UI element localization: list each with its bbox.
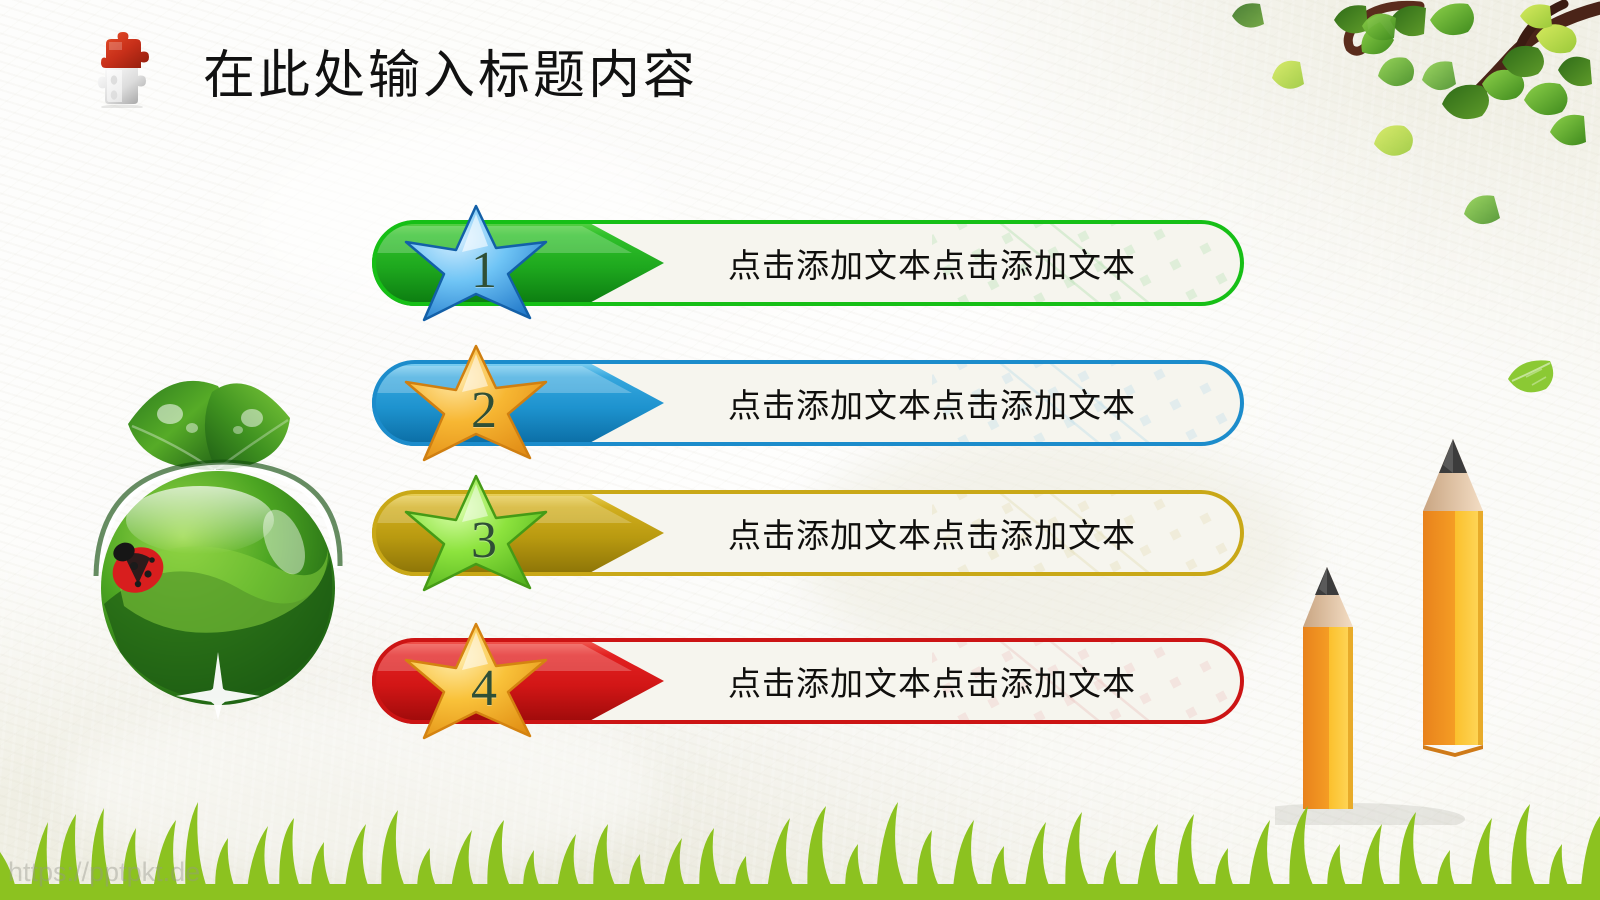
row-number: 4	[400, 620, 552, 742]
list-item[interactable]: 1 点击添加文本点击添加文本	[372, 220, 1244, 306]
grass-silhouette	[0, 780, 1600, 900]
list-item[interactable]: 3 点击添加文本点击添加文本	[372, 490, 1244, 576]
leaf-branch-illustration	[1220, 0, 1600, 230]
star-badge: 2	[400, 342, 552, 464]
row-label: 点击添加文本点击添加文本	[702, 657, 1162, 705]
water-drop-icon	[157, 404, 183, 424]
star-badge: 1	[400, 202, 552, 324]
pencil-icon	[1423, 439, 1483, 757]
row-label: 点击添加文本点击添加文本	[702, 509, 1162, 557]
star-badge: 4	[400, 620, 552, 742]
row-number: 2	[400, 342, 552, 464]
star-badge: 3	[400, 472, 552, 594]
falling-leaf-icon	[1500, 355, 1560, 401]
watermark-text: https://pptpkt.de	[8, 857, 200, 888]
row-label: 点击添加文本点击添加文本	[702, 239, 1162, 287]
water-drop-icon	[233, 426, 243, 434]
water-drop-icon	[186, 423, 198, 433]
row-label: 点击添加文本点击添加文本	[702, 379, 1162, 427]
water-drop-icon	[241, 409, 263, 427]
green-globe-leaf-illustration	[72, 352, 362, 724]
list-item[interactable]: 2 点击添加文本点击添加文本	[372, 360, 1244, 446]
list-item[interactable]: 4 点击添加文本点击添加文本	[372, 638, 1244, 724]
row-number: 1	[400, 202, 552, 324]
pencils-illustration	[1275, 415, 1535, 825]
pencil-icon	[1303, 567, 1353, 809]
row-number: 3	[400, 472, 552, 594]
slide-canvas: 在此处输入标题内容	[0, 0, 1600, 900]
